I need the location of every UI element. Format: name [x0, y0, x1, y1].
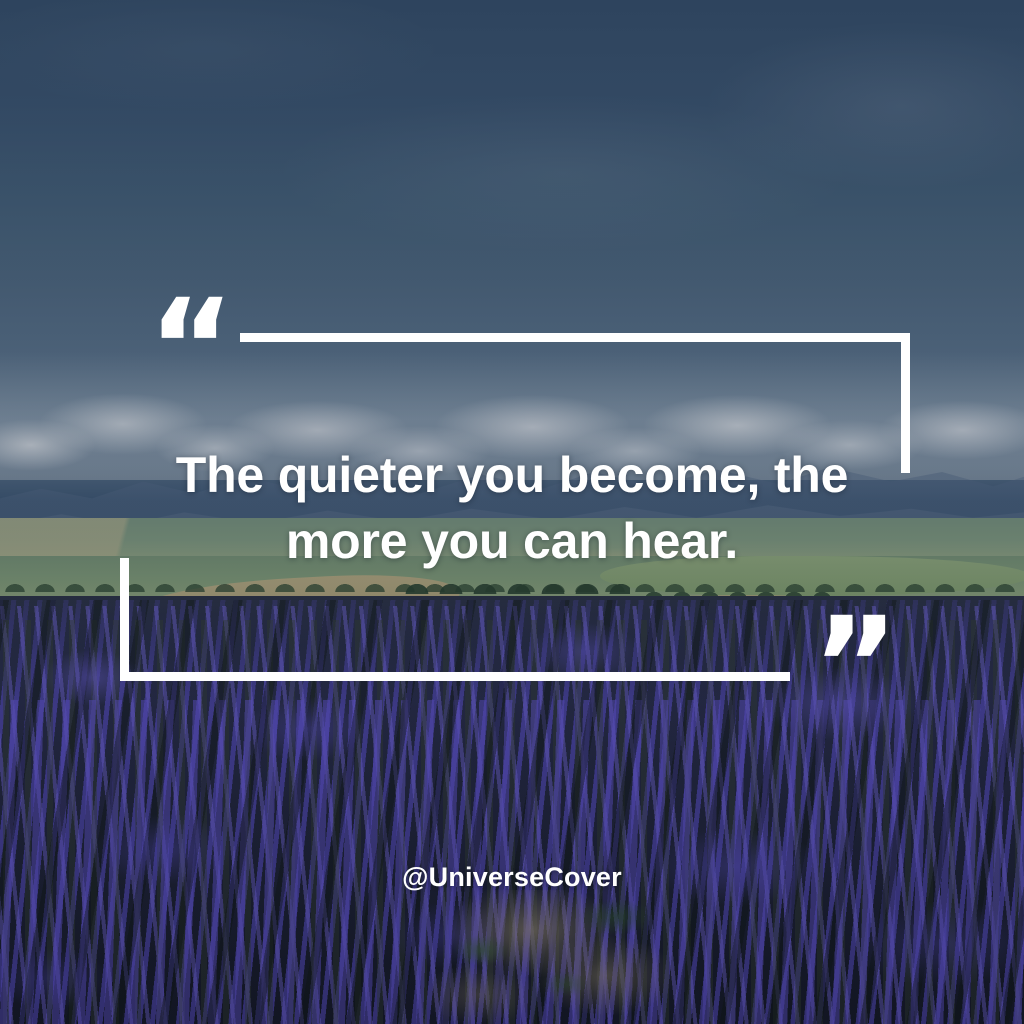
frame-bottom-bar [120, 672, 790, 681]
close-quote-icon: ” [812, 600, 897, 732]
open-quote-icon: “ [148, 282, 233, 414]
watermark-handle: @UniverseCover [0, 862, 1024, 893]
quote-text: The quieter you become, the more you can… [140, 442, 884, 574]
frame-left-bar [120, 558, 129, 681]
frame-top-bar [240, 333, 910, 342]
frame-right-bar [901, 333, 910, 473]
quote-card: “ ” The quieter you become, the more you… [0, 0, 1024, 1024]
